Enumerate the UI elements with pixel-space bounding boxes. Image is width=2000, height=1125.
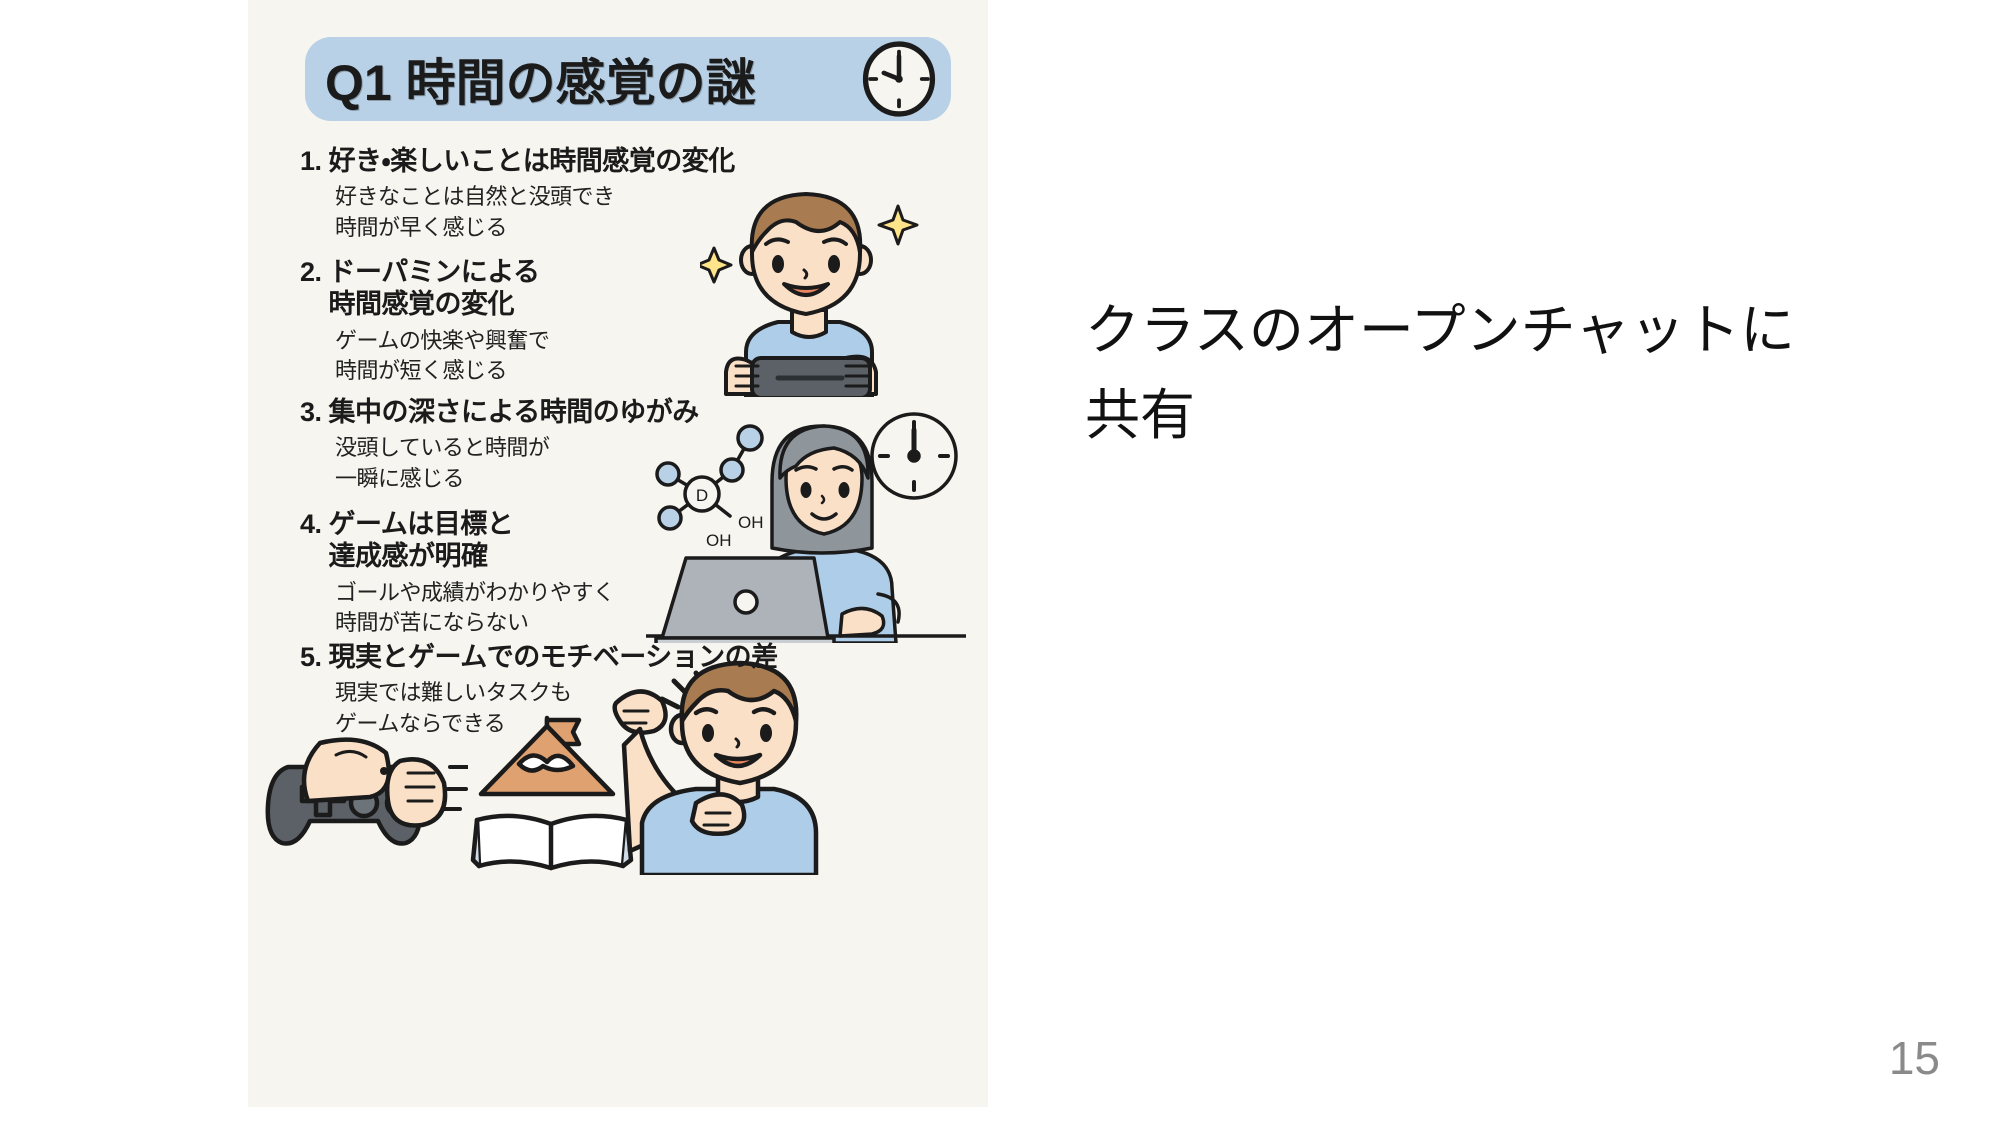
poster-title-text: Q1 時間の感覚の謎 bbox=[325, 43, 756, 115]
item-1-subtext-line-2: 時間が早く感じる bbox=[335, 213, 970, 243]
poster-title-banner: Q1 時間の感覚の謎 bbox=[305, 37, 951, 121]
item-1-heading-text: 好き・楽しいことは時間感覚の変化 bbox=[329, 145, 735, 177]
item-3-heading: 3. 集中の深さによる時間のゆがみ bbox=[300, 396, 970, 428]
item-4-number: 4. bbox=[300, 508, 322, 540]
item-4-subtext-line-2: 時間が苦にならない bbox=[335, 608, 970, 638]
poster-list-item-3: 3. 集中の深さによる時間のゆがみ 没頭していると時間が 一瞬に感じる bbox=[300, 396, 970, 494]
item-1-number: 1. bbox=[300, 145, 322, 177]
item-2-heading: 2. ドーパミンによる 時間感覚の変化 bbox=[300, 256, 970, 321]
item-5-subtext-line-2: ゲームならできる bbox=[335, 709, 970, 739]
item-5-subtext: 現実では難しいタスクも ゲームならできる bbox=[335, 678, 970, 739]
poster-list-item-2: 2. ドーパミンによる 時間感覚の変化 ゲームの快楽や興奮で 時間が短く感じる bbox=[300, 256, 970, 387]
item-3-subtext: 没頭していると時間が 一瞬に感じる bbox=[335, 433, 970, 494]
item-3-subtext-line-2: 一瞬に感じる bbox=[335, 464, 970, 494]
poster-list-item-1: 1. 好き・楽しいことは時間感覚の変化 好きなことは自然と没頭でき 時間が早く感… bbox=[300, 145, 970, 243]
item-2-number: 2. bbox=[300, 256, 322, 288]
item-5-heading-text: 現実とゲームでのモチベーションの差 bbox=[329, 641, 778, 673]
item-2-heading-text: ドーパミンによる 時間感覚の変化 bbox=[329, 256, 540, 321]
poster-list-item-4: 4. ゲームは目標と 達成感が明確 ゴールや成績がわかりやすく 時間が苦にならな… bbox=[300, 508, 970, 639]
infographic-poster: Q1 時間の感覚の謎 bbox=[248, 0, 988, 1107]
item-1-subtext: 好きなことは自然と没頭でき 時間が早く感じる bbox=[335, 182, 970, 243]
page-number: 15 bbox=[1889, 1031, 1940, 1085]
gamepad-with-fist-illustration bbox=[258, 725, 468, 875]
clock-icon bbox=[861, 41, 937, 117]
poster-list-item-5: 5. 現実とゲームでのモチベーションの差 現実では難しいタスクも ゲームならでき… bbox=[300, 641, 970, 739]
item-1-subtext-line-1: 好きなことは自然と没頭でき bbox=[335, 182, 970, 212]
item-3-heading-text: 集中の深さによる時間のゆがみ bbox=[329, 396, 699, 428]
item-2-subtext-line-1: ゲームの快楽や興奮で bbox=[335, 326, 970, 356]
item-3-number: 3. bbox=[300, 396, 322, 428]
item-5-heading: 5. 現実とゲームでのモチベーションの差 bbox=[300, 641, 970, 673]
slide-body-line-2: 共有 bbox=[1085, 373, 1905, 458]
item-4-heading: 4. ゲームは目標と 達成感が明確 bbox=[300, 508, 970, 573]
item-5-number: 5. bbox=[300, 641, 322, 673]
item-2-subtext: ゲームの快楽や興奮で 時間が短く感じる bbox=[335, 326, 970, 387]
item-5-subtext-line-1: 現実では難しいタスクも bbox=[335, 678, 970, 708]
item-3-subtext-line-1: 没頭していると時間が bbox=[335, 433, 970, 463]
item-1-heading: 1. 好き・楽しいことは時間感覚の変化 bbox=[300, 145, 970, 177]
item-2-subtext-line-2: 時間が短く感じる bbox=[335, 356, 970, 386]
item-4-heading-text: ゲームは目標と 達成感が明確 bbox=[329, 508, 514, 573]
slide-body-line-1: クラスのオープンチャットに bbox=[1085, 288, 1905, 373]
slide-body-text: クラスのオープンチャットに 共有 bbox=[1085, 288, 1905, 459]
item-4-subtext-line-1: ゴールや成績がわかりやすく bbox=[335, 578, 970, 608]
item-4-subtext: ゴールや成績がわかりやすく 時間が苦にならない bbox=[335, 578, 970, 639]
slide-canvas: Q1 時間の感覚の謎 bbox=[0, 0, 2000, 1125]
